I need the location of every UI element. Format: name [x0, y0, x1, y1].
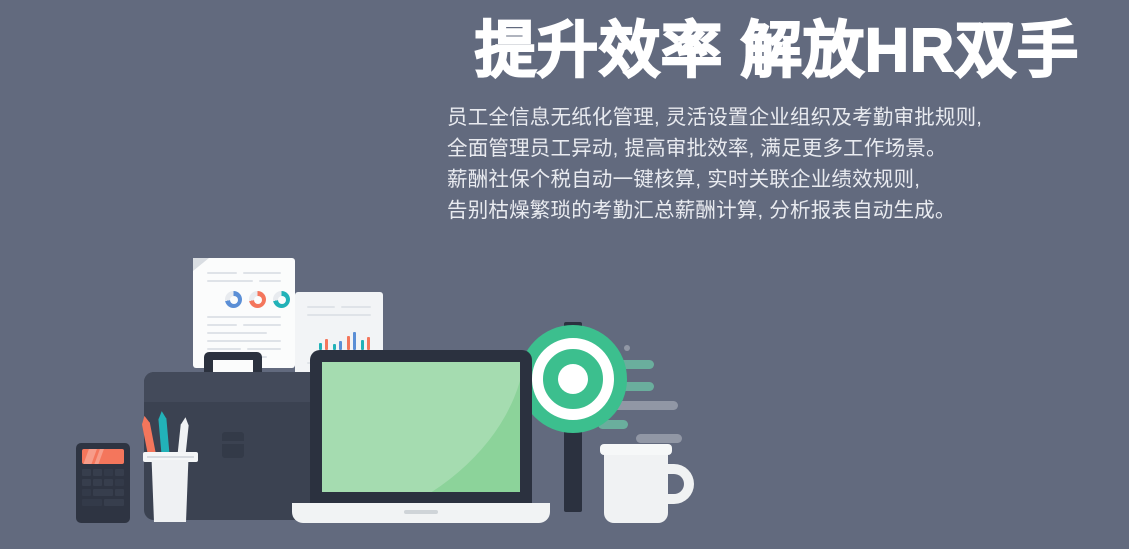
briefcase-lock-icon — [222, 432, 244, 458]
description-line-4: 告别枯燥繁琐的考勤汇总薪酬计算, 分析报表自动生成。 — [447, 195, 1107, 226]
page-title: 提升效率 解放HR双手 — [447, 18, 1107, 84]
description-line-1: 员工全信息无纸化管理, 灵活设置企业组织及考勤审批规则, — [447, 102, 1107, 133]
donut-chart-1 — [225, 291, 242, 308]
briefcase-top-panel — [144, 372, 320, 402]
description-paragraph: 员工全信息无纸化管理, 灵活设置企业组织及考勤审批规则, 全面管理员工异动, 提… — [447, 102, 1107, 226]
laptop-icon — [310, 350, 532, 508]
page-fold-corner — [193, 258, 209, 271]
screen-highlight — [322, 362, 520, 492]
donut-chart-2 — [249, 291, 266, 308]
bar-chart — [317, 328, 367, 350]
laptop-screen — [322, 362, 520, 492]
laptop-trackpad-notch — [404, 510, 438, 514]
pencil-cup-icon — [150, 460, 190, 522]
briefcase-handle — [204, 352, 262, 374]
promo-banner: 提升效率 解放HR双手 员工全信息无纸化管理, 灵活设置企业组织及考勤审批规则,… — [0, 0, 1129, 549]
donut-chart-group — [225, 291, 290, 308]
description-line-3: 薪酬社保个税自动一键核算, 实时关联企业绩效规则, — [447, 164, 1107, 195]
marketing-copy-block: 提升效率 解放HR双手 员工全信息无纸化管理, 灵活设置企业组织及考勤审批规则,… — [447, 18, 1107, 226]
calculator-keypad — [82, 469, 124, 517]
description-line-2: 全面管理员工异动, 提高审批效率, 满足更多工作场景。 — [447, 133, 1107, 164]
coffee-mug-icon — [604, 449, 668, 523]
target-center-dot — [558, 364, 588, 394]
mug-rim — [600, 444, 672, 455]
calculator-icon — [76, 443, 130, 523]
target-bullseye-icon — [519, 325, 627, 433]
calculator-display — [82, 449, 124, 464]
donut-chart-3 — [273, 291, 290, 308]
